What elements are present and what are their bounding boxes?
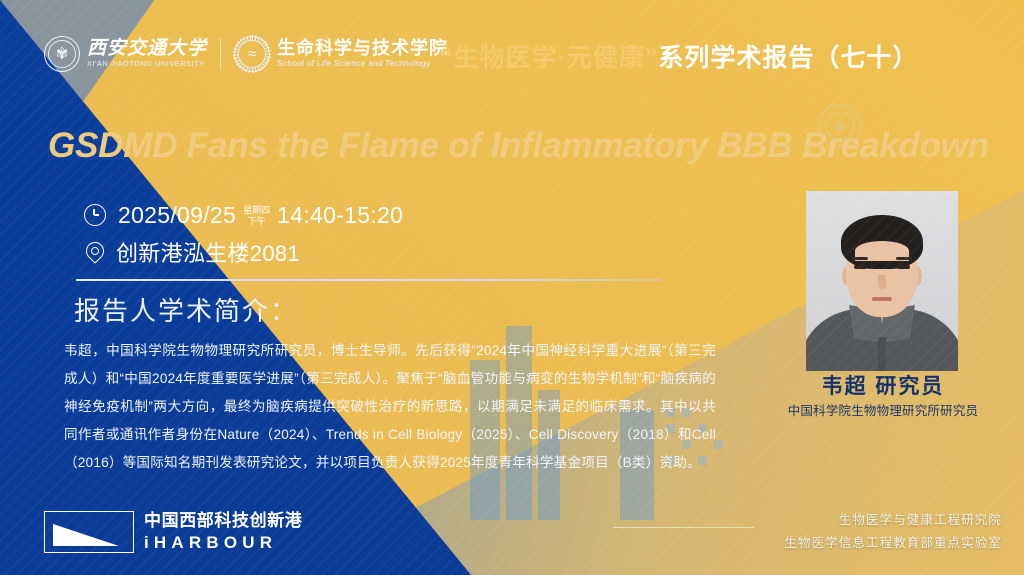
section-divider	[76, 279, 662, 281]
university-seal-icon: ✾	[44, 36, 80, 72]
university-name-en: XI'AN JIAOTONG UNIVERSITY	[87, 60, 207, 69]
iharbour-name-en: iHARBOUR	[144, 533, 302, 553]
speaker-affiliation: 中国科学院生物物理研究所研究员	[760, 403, 1006, 421]
event-datetime-row: 2025/09/25 星期四 下午 14:40-15:20	[84, 200, 403, 230]
speaker-info: 韦超 研究员 中国科学院生物物理研究所研究员	[760, 373, 1006, 421]
speaker-name: 韦超 研究员	[760, 373, 1006, 401]
clock-icon	[84, 204, 106, 226]
school-gear-seal-icon: ≈	[234, 36, 270, 72]
header-logos: ✾ 西安交通大学 XI'AN JIAOTONG UNIVERSITY ≈ 生命科…	[44, 30, 448, 78]
seminar-poster: ✾ 西安交通大学 XI'AN JIAOTONG UNIVERSITY ≈ 生命科…	[0, 0, 1024, 575]
series-title-quote: “生物医学·元健康”	[440, 44, 658, 72]
speaker-portrait-photo	[806, 191, 958, 371]
bio-section-heading: 报告人学术简介：	[74, 291, 298, 328]
event-weekday-period: 星期四 下午	[243, 205, 270, 226]
event-weekday: 星期四	[243, 205, 270, 216]
school-logo: ≈ 生命科学与技术学院 School of Life Science and T…	[234, 36, 448, 72]
iharbour-sail-icon	[44, 511, 134, 553]
footer-institute-text: 生物医学与健康工程研究院 生物医学信息工程教育部重点实验室	[784, 509, 1002, 555]
iharbour-name-cn: 中国西部科技创新港	[144, 511, 302, 531]
logo-divider	[220, 38, 221, 70]
event-time: 14:40-15:20	[277, 202, 403, 229]
university-logo: ✾ 西安交通大学 XI'AN JIAOTONG UNIVERSITY	[44, 36, 207, 72]
location-pin-icon	[84, 242, 104, 262]
university-name-cn: 西安交通大学	[87, 39, 207, 60]
event-date: 2025/09/25	[118, 202, 236, 229]
footer-line-1: 生物医学与健康工程研究院	[784, 509, 1002, 532]
event-meta: 2025/09/25 星期四 下午 14:40-15:20 创新港泓生楼2081	[84, 200, 403, 274]
footer-line-2: 生物医学信息工程教育部重点实验室	[784, 532, 1002, 555]
footer-rule	[614, 527, 754, 528]
event-location: 创新港泓生楼2081	[116, 236, 300, 268]
bio-text: 韦超，中国科学院生物物理研究所研究员，博士生导师。先后获得“2024年中国神经科…	[64, 337, 716, 477]
series-title-rest: 系列学术报告（七十）	[658, 44, 918, 72]
event-period: 下午	[243, 216, 270, 227]
event-location-row: 创新港泓生楼2081	[84, 237, 403, 267]
page-title: GSDMD Fans the Flame of Inflammatory BBB…	[48, 126, 978, 166]
series-title: “生物医学·元健康”系列学术报告（七十）	[440, 38, 918, 74]
school-name-cn: 生命科学与技术学院	[277, 39, 448, 58]
school-name-en: School of Life Science and Technology	[277, 59, 448, 69]
iharbour-logo: 中国西部科技创新港 iHARBOUR	[44, 511, 302, 553]
